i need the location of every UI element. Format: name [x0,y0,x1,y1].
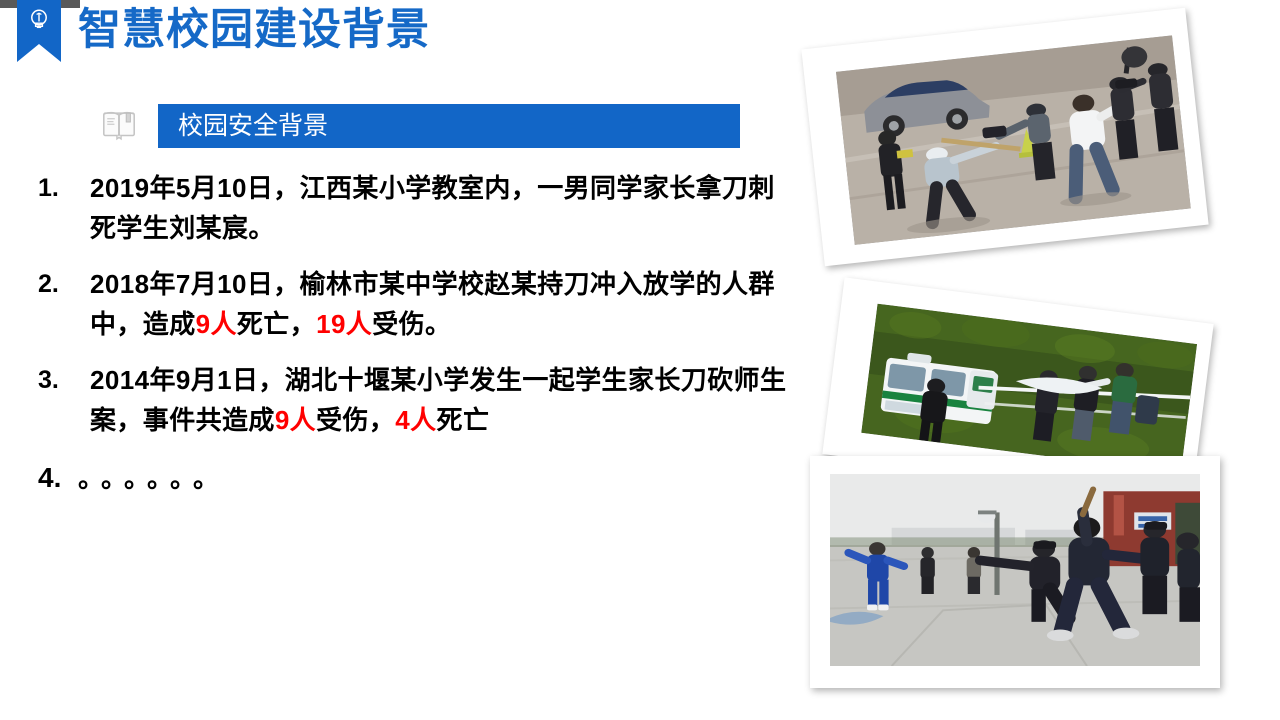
text-segment: 死亡 [437,405,490,435]
list-item-text: 2019年5月10日，江西某小学教室内，一男同学家长拿刀刺死学生刘某宸。 [90,168,798,248]
text-segment: 受伤， [316,405,395,435]
photo-image [861,304,1197,473]
text-segment: 死亡， [237,309,316,339]
list-item-number: 3. [38,360,90,400]
badge-point-shape [17,44,61,62]
list-item-number: 4. [38,456,78,500]
text-segment: 。。。。。。 [78,463,229,493]
photo-collage [760,0,1280,720]
section-heading-label: 校园安全背景 [178,104,328,148]
list-item: 4. 。。。。。。 [38,456,798,500]
photo-image [836,35,1191,244]
slide-canvas: 智慧校园建设背景 校园安全背景 1. 2019年5月10日，江西某小学教室内，一… [0,0,1280,720]
photo-school-drill [810,456,1220,688]
list-item-number: 2. [38,264,90,304]
list-item-text: 2018年7月10日，榆林市某中学校赵某持刀冲入放学的人群中，造成9人死亡，19… [90,264,798,344]
list-item-number: 1. [38,168,90,208]
lightbulb-icon [26,7,52,33]
list-item-text: 。。。。。。 [78,456,798,500]
page-title: 智慧校园建设背景 [78,2,430,58]
list-item: 3. 2014年9月1日，湖北十堰某小学发生一起学生家长刀砍师生案，事件共造成9… [38,360,798,440]
highlight-segment: 9人 [196,309,237,339]
list-item: 1. 2019年5月10日，江西某小学教室内，一男同学家长拿刀刺死学生刘某宸。 [38,168,798,248]
text-segment: 受伤。 [372,309,451,339]
title-badge [17,0,61,62]
highlight-segment: 19人 [316,309,372,339]
highlight-segment: 9人 [275,405,316,435]
photo-image [830,474,1200,666]
highlight-segment: 4人 [395,405,436,435]
list-item-text: 2014年9月1日，湖北十堰某小学发生一起学生家长刀砍师生案，事件共造成9人受伤… [90,360,798,440]
photo-street-confrontation [801,8,1208,266]
section-heading-bar: 校园安全背景 [158,104,740,148]
incident-list: 1. 2019年5月10日，江西某小学教室内，一男同学家长拿刀刺死学生刘某宸。 … [38,168,798,516]
open-book-icon [100,107,138,145]
list-item: 2. 2018年7月10日，榆林市某中学校赵某持刀冲入放学的人群中，造成9人死亡… [38,264,798,344]
text-segment: 2019年5月10日，江西某小学教室内，一男同学家长拿刀刺死学生刘某宸。 [90,173,775,243]
